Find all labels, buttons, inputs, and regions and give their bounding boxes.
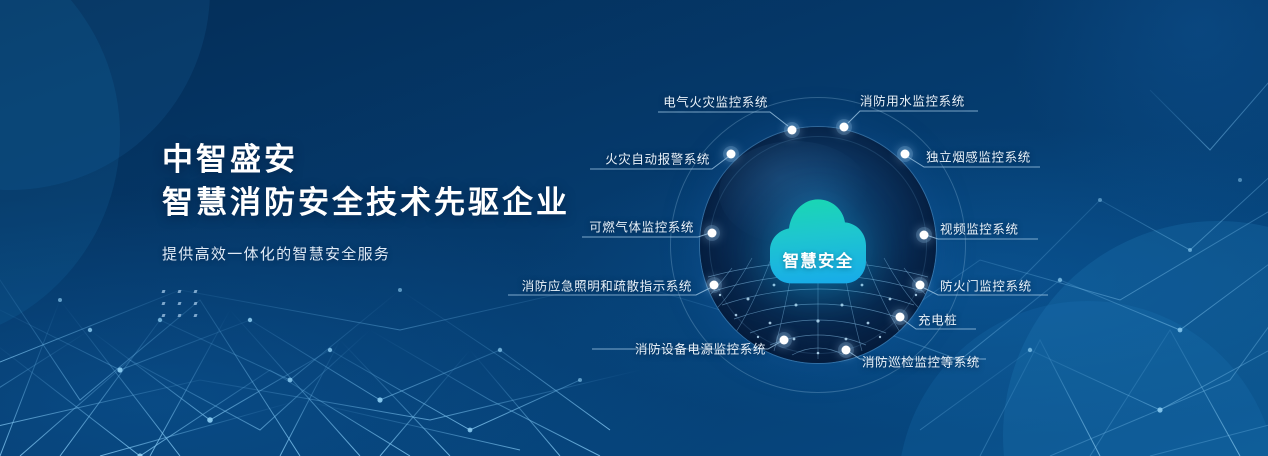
label-chong-dian-zhuang[interactable]: 充电桩 <box>918 310 957 329</box>
label-ke-ran-qi-ti[interactable]: 可燃气体监控系统 <box>589 217 694 236</box>
smart-safety-diagram: 智慧安全 <box>700 127 936 363</box>
hero-copy: 中智盛安 智慧消防安全技术先驱企业 提供高效一体化的智慧安全服务 <box>162 140 570 326</box>
label-shi-pin-jian-kong[interactable]: 视频监控系统 <box>940 219 1019 238</box>
label-du-li-yan-gan[interactable]: 独立烟感监控系统 <box>926 147 1031 166</box>
node-fang-huo-men[interactable] <box>916 281 925 290</box>
node-shi-pin-jian-kong[interactable] <box>920 231 929 240</box>
node-ke-ran-qi-ti[interactable] <box>708 229 717 238</box>
node-she-bei-dian-yuan[interactable] <box>780 336 789 345</box>
page-title-line1: 中智盛安 <box>162 140 570 181</box>
node-chong-dian-zhuang[interactable] <box>896 313 905 322</box>
cloud-icon: 智慧安全 <box>758 195 878 287</box>
node-xun-jian-jian-kong[interactable] <box>842 346 851 355</box>
label-dian-qi-huo-zai[interactable]: 电气火灾监控系统 <box>663 92 768 111</box>
node-huo-zai-zi-dong-bao-jing[interactable] <box>727 150 736 159</box>
page-title-line2: 智慧消防安全技术先驱企业 <box>162 183 570 224</box>
label-xun-jian-jian-kong[interactable]: 消防巡检监控等系统 <box>862 352 980 371</box>
label-she-bei-dian-yuan[interactable]: 消防设备电源监控系统 <box>635 339 766 358</box>
decorative-dot-grid <box>162 290 204 317</box>
cloud-label: 智慧安全 <box>758 247 878 271</box>
hero-banner: 中智盛安 智慧消防安全技术先驱企业 提供高效一体化的智慧安全服务 <box>0 0 1268 456</box>
node-du-li-yan-gan[interactable] <box>901 150 910 159</box>
node-ying-ji-zhao-ming[interactable] <box>710 281 719 290</box>
label-xiao-fang-yong-shui[interactable]: 消防用水监控系统 <box>860 91 965 110</box>
node-xiao-fang-yong-shui[interactable] <box>840 123 849 132</box>
page-subtitle: 提供高效一体化的智慧安全服务 <box>162 243 570 264</box>
node-dian-qi-huo-zai[interactable] <box>788 126 797 135</box>
label-fang-huo-men[interactable]: 防火门监控系统 <box>940 276 1032 295</box>
label-huo-zai-zi-dong-bao-jing[interactable]: 火灾自动报警系统 <box>605 149 710 168</box>
